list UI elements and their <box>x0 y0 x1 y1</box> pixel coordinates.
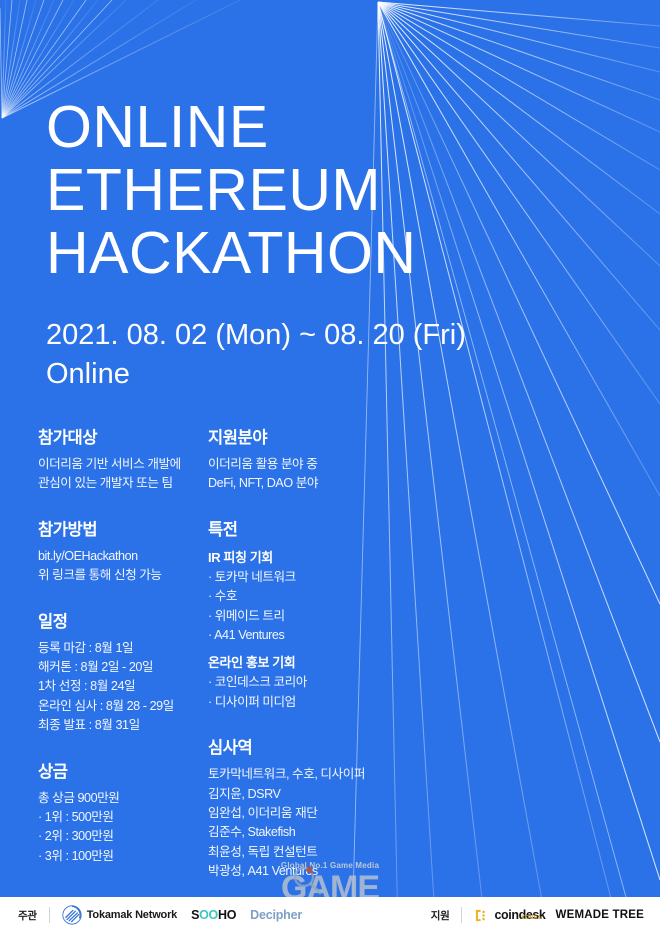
logo-sooho[interactable]: SOOHO <box>191 908 236 922</box>
footer-hosts: 주관 Tokamak Network SOOHO <box>0 905 302 925</box>
prize-line: 총 상금 900만원 <box>38 789 208 808</box>
event-dates: 2021. 08. 02 (Mon) ~ 08. 20 (Fri) <box>46 316 620 354</box>
fields-line: DeFi, NFT, DAO 분야 <box>208 474 458 493</box>
title-line-2: ETHEREUM <box>46 157 381 223</box>
prizes-heading: 상금 <box>38 758 208 782</box>
footer-divider <box>49 907 50 923</box>
decipher-label: Decipher <box>250 908 302 922</box>
fields-line: 이더리움 활용 분야 중 <box>208 455 458 474</box>
benefits-pr-list: · 코인데스크 코리아 · 디사이퍼 미디엄 <box>208 673 458 712</box>
judge-line: 최윤성, 독립 컨설턴트 <box>208 843 458 862</box>
sooho-label: SOOHO <box>191 908 236 922</box>
logo-decipher[interactable]: Decipher <box>250 908 302 922</box>
how-to-apply-heading: 참가방법 <box>38 516 208 540</box>
sponsor-label: 지원 <box>431 908 450 923</box>
judges-heading: 심사역 <box>208 734 458 758</box>
poster-footer: 주관 Tokamak Network SOOHO <box>0 897 660 933</box>
info-column-right: 지원분야 이더리움 활용 분야 중 DeFi, NFT, DAO 분야 특전 I… <box>208 424 458 881</box>
fields-heading: 지원분야 <box>208 424 458 448</box>
judge-line: 토카막네트워크, 수호, 디사이퍼 <box>208 765 458 784</box>
schedule-line: 등록 마감 : 8월 1일 <box>38 639 208 658</box>
sooho-part-s: S <box>191 908 199 922</box>
host-label: 주관 <box>18 908 37 923</box>
section-prizes: 상금 총 상금 900만원 · 1위 : 500만원 · 2위 : 300만원 … <box>38 758 208 867</box>
poster-canvas: ONLINE ETHEREUM HACKATHON 2021. 08. 02 (… <box>0 0 660 933</box>
wemade-label: WEMADE TREE <box>556 909 644 921</box>
participants-heading: 참가대상 <box>38 424 208 448</box>
benefit-item: · 위메이드 트리 <box>208 607 458 626</box>
coindesk-region: KOREA <box>521 915 541 921</box>
poster-title: ONLINE ETHEREUM HACKATHON <box>46 96 620 285</box>
section-how-to-apply: 참가방법 bit.ly/OEHackathon 위 링크를 통해 신청 가능 <box>38 516 208 586</box>
section-participants: 참가대상 이더리움 기반 서비스 개발에 관심이 있는 개발자 또는 팀 <box>38 424 208 494</box>
judge-line: 김준수, Stakefish <box>208 823 458 842</box>
title-line-1: ONLINE <box>46 94 269 160</box>
prize-line: · 2위 : 300만원 <box>38 827 208 846</box>
sooho-part-ho: HO <box>218 908 236 922</box>
benefit-item: · 수호 <box>208 587 458 606</box>
schedule-line: 온라인 심사 : 8월 28 - 29일 <box>38 697 208 716</box>
tokamak-label: Tokamak Network <box>87 909 177 921</box>
prize-line: · 3위 : 100만원 <box>38 847 208 866</box>
benefit-item: · 토카막 네트워크 <box>208 568 458 587</box>
benefit-item: · A41 Ventures <box>208 626 458 645</box>
event-location: Online <box>46 355 620 393</box>
info-column-left: 참가대상 이더리움 기반 서비스 개발에 관심이 있는 개발자 또는 팀 참가방… <box>38 424 208 881</box>
coindesk-wordmark: coindesk KOREA <box>494 908 541 922</box>
benefit-item: · 디사이퍼 미디엄 <box>208 693 458 712</box>
apply-link[interactable]: bit.ly/OEHackathon <box>38 547 208 566</box>
judge-line: 임완섭, 이더리움 재단 <box>208 804 458 823</box>
section-fields: 지원분야 이더리움 활용 분야 중 DeFi, NFT, DAO 분야 <box>208 424 458 494</box>
section-benefits: 특전 IR 피칭 기회 · 토카막 네트워크 · 수호 · 위메이드 트리 · … <box>208 516 458 712</box>
footer-divider <box>461 907 462 923</box>
apply-note: 위 링크를 통해 신청 가능 <box>38 566 208 585</box>
schedule-line: 최종 발표 : 8월 31일 <box>38 716 208 735</box>
schedule-line: 해커톤 : 8월 2일 - 20일 <box>38 658 208 677</box>
section-judges: 심사역 토카막네트워크, 수호, 디사이퍼 김지윤, DSRV 임완섭, 이더리… <box>208 734 458 881</box>
benefits-ir-list: · 토카막 네트워크 · 수호 · 위메이드 트리 · A41 Ventures <box>208 568 458 646</box>
logo-tokamak-network[interactable]: Tokamak Network <box>62 905 177 925</box>
participants-line: 관심이 있는 개발자 또는 팀 <box>38 474 208 493</box>
judge-line: 김지윤, DSRV <box>208 785 458 804</box>
schedule-heading: 일정 <box>38 608 208 632</box>
schedule-line: 1차 선정 : 8월 24일 <box>38 677 208 696</box>
coindesk-icon <box>474 908 489 923</box>
judge-line: 박광성, A41 Ventures <box>208 862 458 881</box>
tokamak-icon <box>62 905 82 925</box>
section-schedule: 일정 등록 마감 : 8월 1일 해커톤 : 8월 2일 - 20일 1차 선정… <box>38 608 208 736</box>
footer-sponsors: 지원 coindesk KOREA WEMADE TREE <box>431 907 660 923</box>
benefits-sub-ir: IR 피칭 기회 <box>208 547 458 566</box>
poster-info: 참가대상 이더리움 기반 서비스 개발에 관심이 있는 개발자 또는 팀 참가방… <box>0 424 660 881</box>
prize-line: · 1위 : 500만원 <box>38 808 208 827</box>
logo-coindesk[interactable]: coindesk KOREA <box>474 908 541 923</box>
sooho-part-oo: OO <box>199 908 218 922</box>
logo-wemade-tree[interactable]: WEMADE TREE <box>556 909 644 921</box>
participants-line: 이더리움 기반 서비스 개발에 <box>38 455 208 474</box>
benefits-sub-pr: 온라인 홍보 기회 <box>208 652 458 671</box>
benefits-heading: 특전 <box>208 516 458 540</box>
benefit-item: · 코인데스크 코리아 <box>208 673 458 692</box>
poster-hero: ONLINE ETHEREUM HACKATHON 2021. 08. 02 (… <box>46 96 620 393</box>
title-line-3: HACKATHON <box>46 220 417 286</box>
